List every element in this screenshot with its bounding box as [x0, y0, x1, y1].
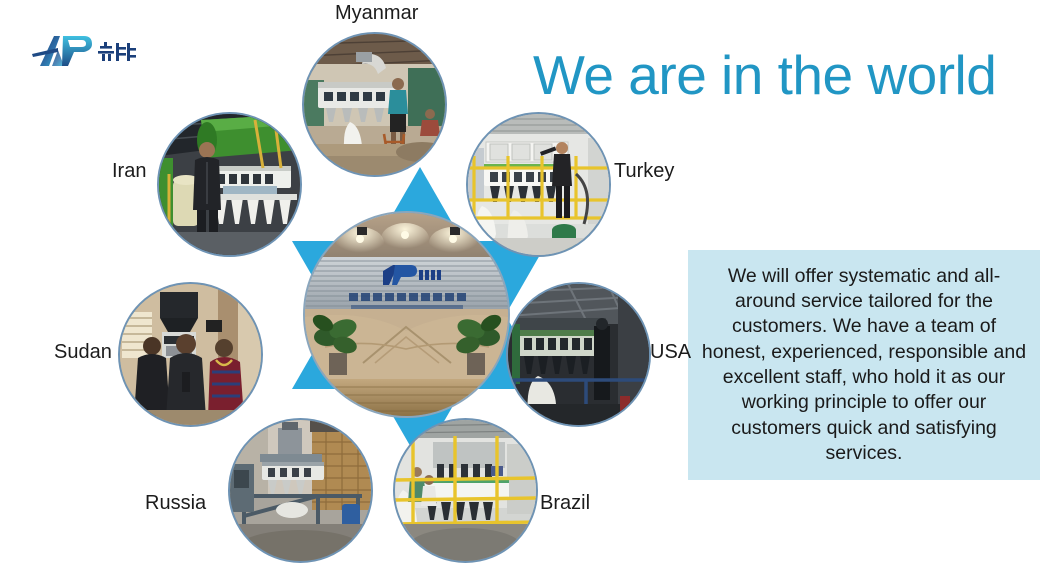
location-photo-sudan [118, 282, 263, 427]
usa-factory-photo [508, 284, 649, 425]
location-photo-brazil [393, 418, 538, 563]
location-label-iran: Iran [112, 160, 146, 183]
company-logo [18, 26, 143, 76]
center-company-photo [303, 211, 510, 418]
location-label-sudan: Sudan [54, 341, 112, 364]
company-lobby-photo [305, 213, 508, 416]
location-label-turkey: Turkey [614, 160, 674, 183]
russia-factory-photo [230, 420, 371, 561]
myanmar-factory-photo [304, 34, 445, 175]
location-label-russia: Russia [145, 492, 206, 515]
location-photo-usa [506, 282, 651, 427]
page-title: We are in the world [533, 47, 996, 105]
location-label-myanmar: Myanmar [335, 2, 418, 25]
location-photo-iran [157, 112, 302, 257]
brazil-factory-photo [395, 420, 536, 561]
logo-cn-characters [98, 42, 136, 61]
ab-logo-mark [18, 26, 143, 76]
iran-factory-photo [159, 114, 300, 255]
turkey-factory-photo [468, 114, 609, 255]
location-photo-myanmar [302, 32, 447, 177]
location-label-usa: USA [650, 341, 691, 364]
sudan-team-photo [120, 284, 261, 425]
slide-canvas: We are in the world We will offer system… [0, 0, 1060, 567]
location-photo-turkey [466, 112, 611, 257]
location-photo-russia [228, 418, 373, 563]
service-statement-panel: We will offer systematic and all-around … [688, 250, 1040, 480]
service-statement-text: We will offer systematic and all-around … [688, 264, 1040, 467]
location-label-brazil: Brazil [540, 492, 590, 515]
